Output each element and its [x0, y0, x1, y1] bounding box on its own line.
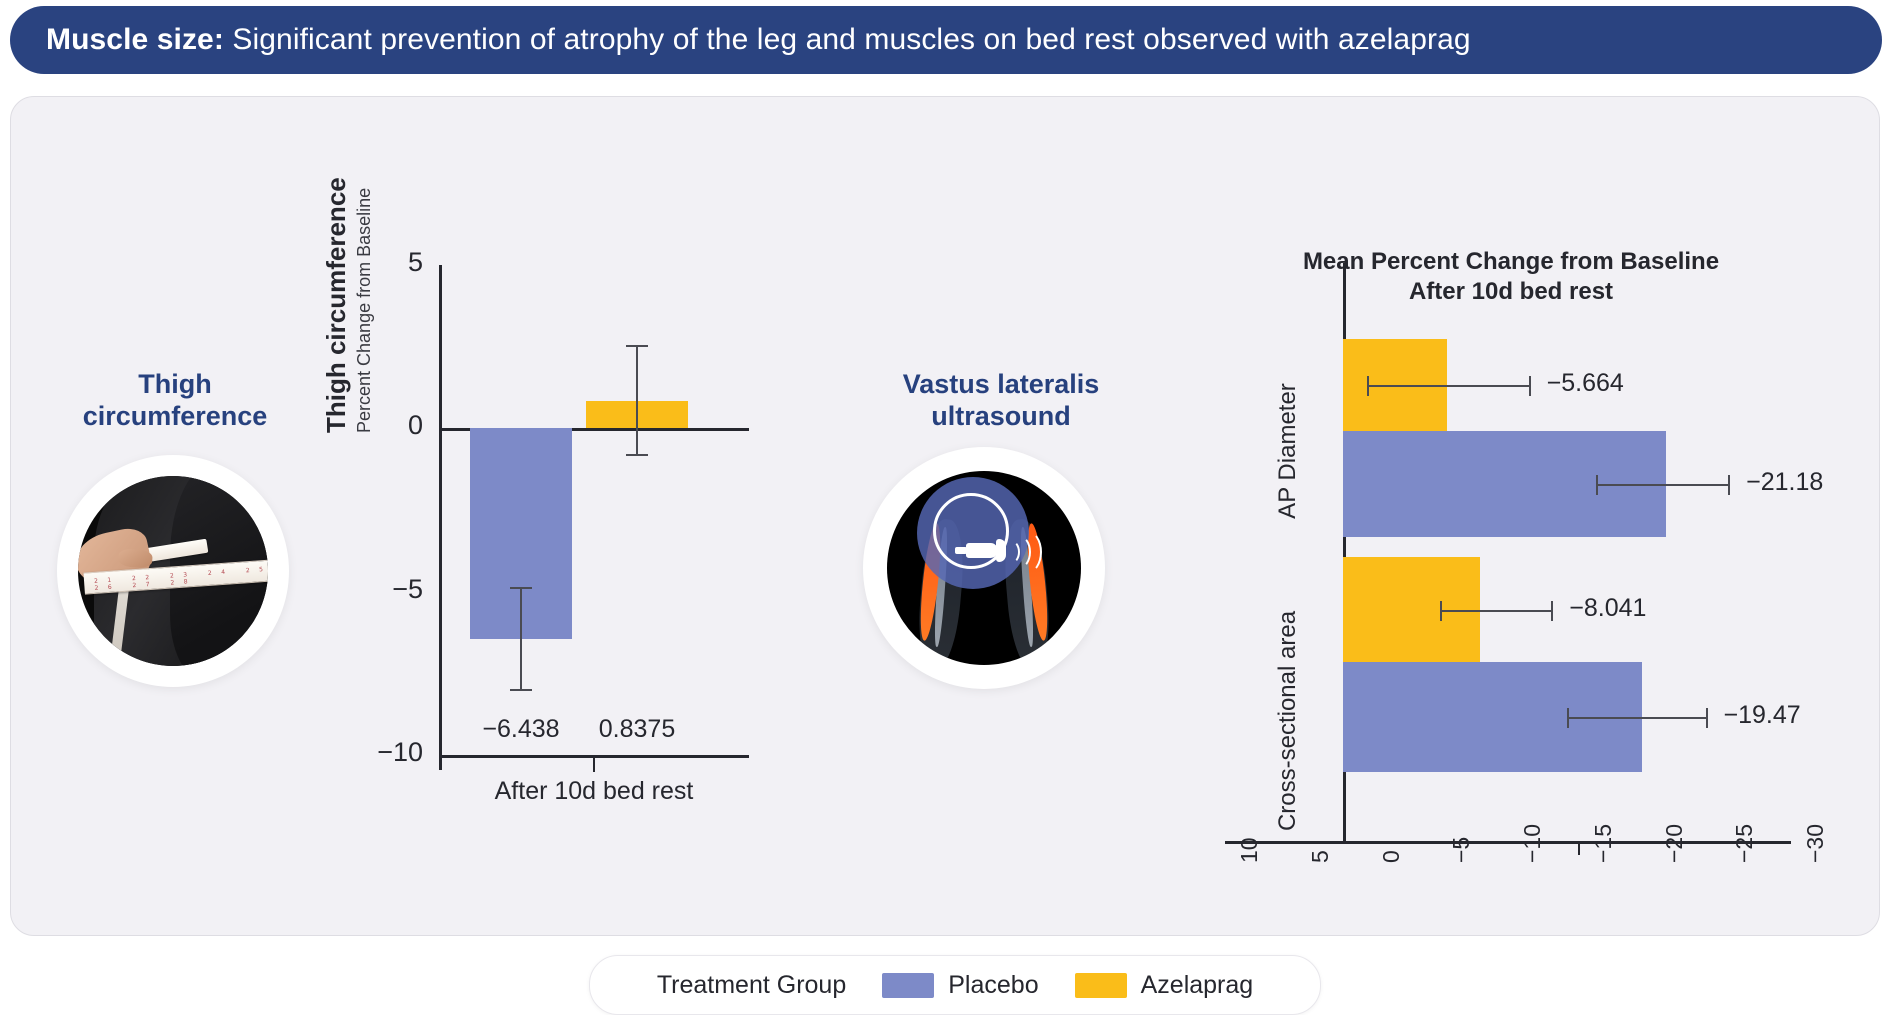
thigh-circumference-photo: 21 22 23 24 25 26 27 28	[57, 455, 289, 687]
right-chart-title-line1: Mean Percent Change from Baseline	[1303, 248, 1719, 275]
left-chart-errorbar-azelaprag	[636, 345, 638, 456]
right-chart-errorbar-2	[1440, 610, 1553, 612]
right-chart-category-label-0: AP Diameter	[1274, 326, 1302, 576]
left-chart-x-axis-label: After 10d bed rest	[434, 777, 754, 806]
right-chart-errorbar-3	[1567, 717, 1707, 719]
thigh-photo-inner: 21 22 23 24 25 26 27 28	[78, 476, 268, 666]
left-chart-y-tick-2: −5	[363, 574, 423, 605]
legend-title: Treatment Group	[657, 971, 846, 1000]
ultrasound-badge	[917, 477, 1029, 589]
right-chart-x-tick-label-5: −15	[1590, 824, 1617, 863]
legend-label-azelaprag: Azelaprag	[1141, 971, 1254, 1000]
left-chart-y-axis-title-main: Thigh circumference	[321, 177, 351, 433]
thigh-panel-caption: Thigh circumference	[45, 369, 305, 433]
ultrasound-panel-caption: Vastus lateralis ultrasound	[871, 369, 1131, 433]
legend-label-placebo: Placebo	[948, 971, 1038, 1000]
left-chart-value-label-azelaprag: 0.8375	[557, 715, 717, 744]
right-chart-x-tick-label-4: −10	[1519, 824, 1546, 863]
right-chart-errorbar-1	[1596, 484, 1730, 486]
right-chart-title-line2: After 10d bed rest	[1409, 278, 1613, 305]
thigh-caption-line1: Thigh	[138, 369, 211, 399]
banner-lead: Muscle size:	[46, 23, 224, 56]
right-chart-x-axis	[1225, 841, 1791, 844]
slide-root: Muscle size: Significant prevention of a…	[0, 0, 1892, 950]
right-chart-errorbar-0	[1367, 385, 1531, 387]
ultrasound-caption-line1: Vastus lateralis	[903, 369, 1100, 399]
banner-text: Muscle size: Significant prevention of a…	[10, 23, 1471, 57]
ultrasound-photo-inner	[887, 471, 1081, 665]
right-chart-x-tick-label-2: 0	[1378, 850, 1405, 863]
right-chart-x-tick-label-0: 10	[1236, 837, 1263, 863]
left-chart-x-tick	[593, 758, 595, 772]
left-chart-y-axis-title: Thigh circumference Percent Change from …	[321, 177, 375, 433]
right-chart-title: Mean Percent Change from Baseline After …	[1231, 247, 1791, 307]
right-chart-x-tick-label-7: −25	[1731, 824, 1758, 863]
header-banner: Muscle size: Significant prevention of a…	[10, 6, 1882, 74]
left-chart-y-tick-0: 5	[363, 247, 423, 278]
right-chart-value-label-2: −8.041	[1569, 594, 1646, 623]
right-chart-value-label-0: −5.664	[1547, 369, 1624, 398]
ultrasound-caption-line2: ultrasound	[931, 401, 1071, 431]
right-chart-category-label-1: Cross-sectional area	[1274, 596, 1302, 846]
ultrasound-ring	[933, 493, 1009, 569]
right-chart-x-tick-label-8: −30	[1802, 824, 1829, 863]
chart-legend: Treatment Group Placebo Azelaprag	[589, 955, 1321, 1015]
legend-item-placebo[interactable]: Placebo	[882, 971, 1038, 1000]
right-chart-value-label-3: −19.47	[1724, 701, 1801, 730]
right-chart-x-tick-label-3: −5	[1448, 837, 1475, 863]
legend-swatch-azelaprag	[1075, 973, 1127, 998]
left-chart-y-tick-3: −10	[363, 737, 423, 768]
vastus-lateralis-ultrasound-image	[863, 447, 1105, 689]
vastus-lateralis-chart: Mean Percent Change from Baseline After …	[1191, 247, 1831, 887]
right-chart-x-tick-5	[1578, 841, 1580, 855]
legend-item-azelaprag[interactable]: Azelaprag	[1075, 971, 1254, 1000]
ultrasound-probe-icon	[966, 543, 998, 558]
left-chart-y-axis	[439, 265, 442, 770]
ultrasound-wave-icon-3	[1012, 530, 1042, 574]
thigh-caption-line2: circumference	[83, 401, 268, 431]
right-chart-value-label-1: −21.18	[1746, 468, 1823, 497]
legend-swatch-placebo	[882, 973, 934, 998]
left-chart-y-axis-title-sub: Percent Change from Baseline	[354, 177, 375, 433]
right-chart-x-tick-label-6: −20	[1661, 824, 1688, 863]
content-card: Thigh circumference 21 22 23 24 25 26 27…	[10, 96, 1880, 936]
banner-rest: Significant prevention of atrophy of the…	[224, 23, 1471, 56]
left-chart-y-tick-1: 0	[363, 410, 423, 441]
left-chart-errorbar-placebo	[520, 587, 522, 692]
thigh-circumference-chart: Thigh circumference Percent Change from …	[329, 247, 799, 887]
right-chart-x-tick-label-1: 5	[1307, 850, 1334, 863]
